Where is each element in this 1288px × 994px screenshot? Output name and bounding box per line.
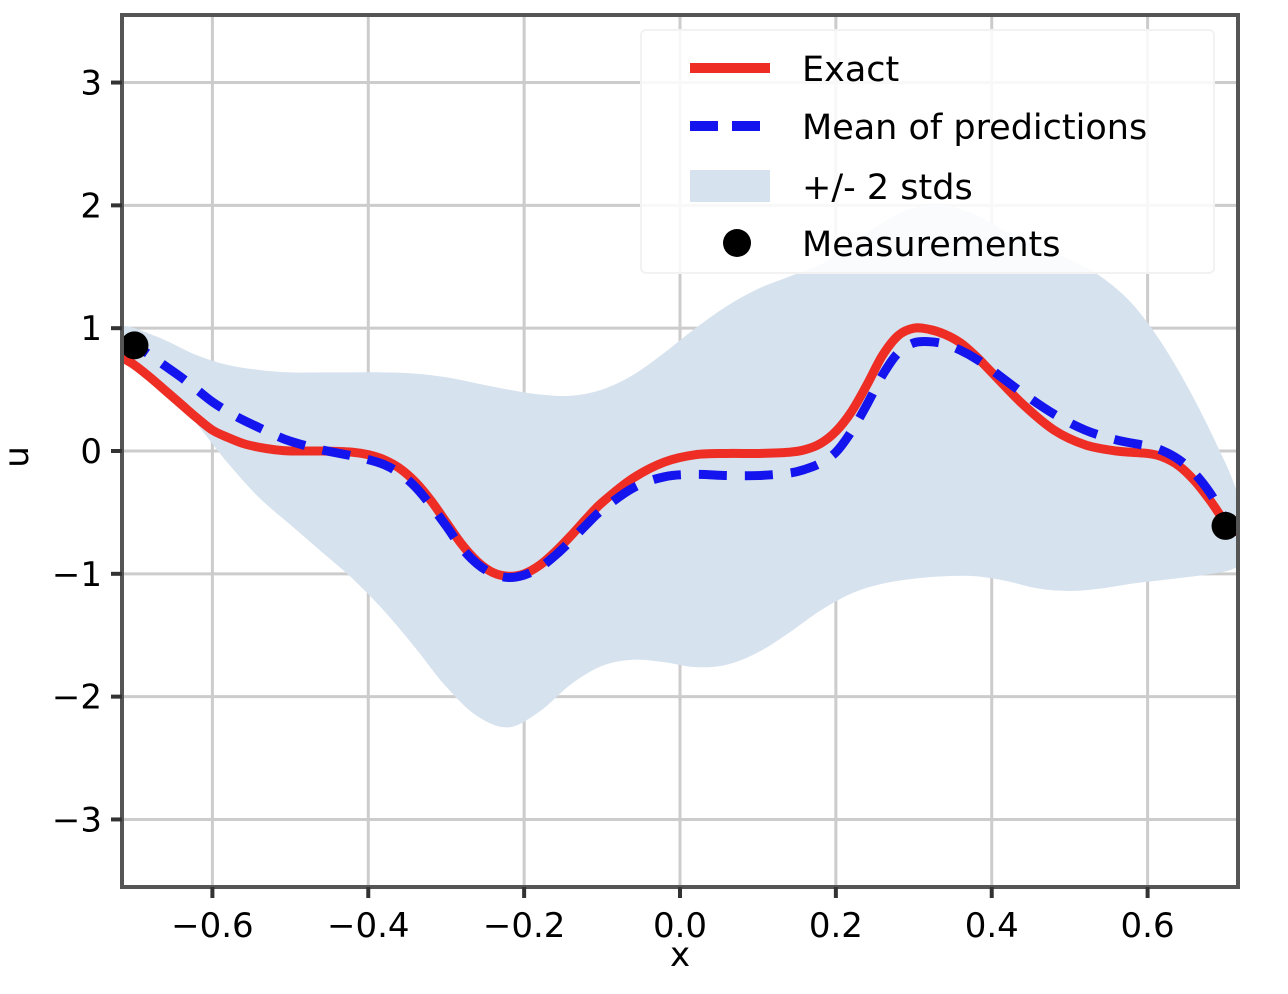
y-tick-label: 1 xyxy=(80,309,102,349)
x-tick-label: 0.6 xyxy=(1121,906,1175,946)
y-tick-label: −2 xyxy=(52,678,102,718)
y-tick-label: −3 xyxy=(52,800,102,840)
y-tick-label: 0 xyxy=(80,432,102,472)
legend: ExactMean of predictions+/- 2 stdsMeasur… xyxy=(641,30,1214,273)
legend-label: Measurements xyxy=(802,225,1061,265)
y-tick-label: 2 xyxy=(80,186,102,226)
legend-swatch-measurements xyxy=(723,229,751,257)
y-axis-label: u xyxy=(0,446,37,468)
y-tick-label: 3 xyxy=(80,64,102,104)
plot-svg: −0.6−0.4−0.20.00.20.40.6 −3−2−10123 x u … xyxy=(0,0,1288,994)
figure-canvas: −0.6−0.4−0.20.00.20.40.6 −3−2−10123 x u … xyxy=(0,0,1288,994)
x-tick-label: −0.6 xyxy=(171,906,254,946)
x-tick-label: −0.2 xyxy=(483,906,566,946)
y-tick-labels: −3−2−10123 xyxy=(52,64,102,841)
x-tick-label: 0.4 xyxy=(965,906,1019,946)
legend-label: Mean of predictions xyxy=(802,108,1147,148)
legend-label: Exact xyxy=(802,50,899,90)
legend-label: +/- 2 stds xyxy=(802,168,973,208)
measurement-point xyxy=(120,331,148,359)
measurement-point xyxy=(1212,512,1240,540)
x-tick-label: −0.4 xyxy=(327,906,410,946)
legend-swatch-band xyxy=(690,170,770,202)
x-axis-label: x xyxy=(670,935,690,975)
x-tick-label: 0.2 xyxy=(809,906,863,946)
y-tick-label: −1 xyxy=(52,555,102,595)
